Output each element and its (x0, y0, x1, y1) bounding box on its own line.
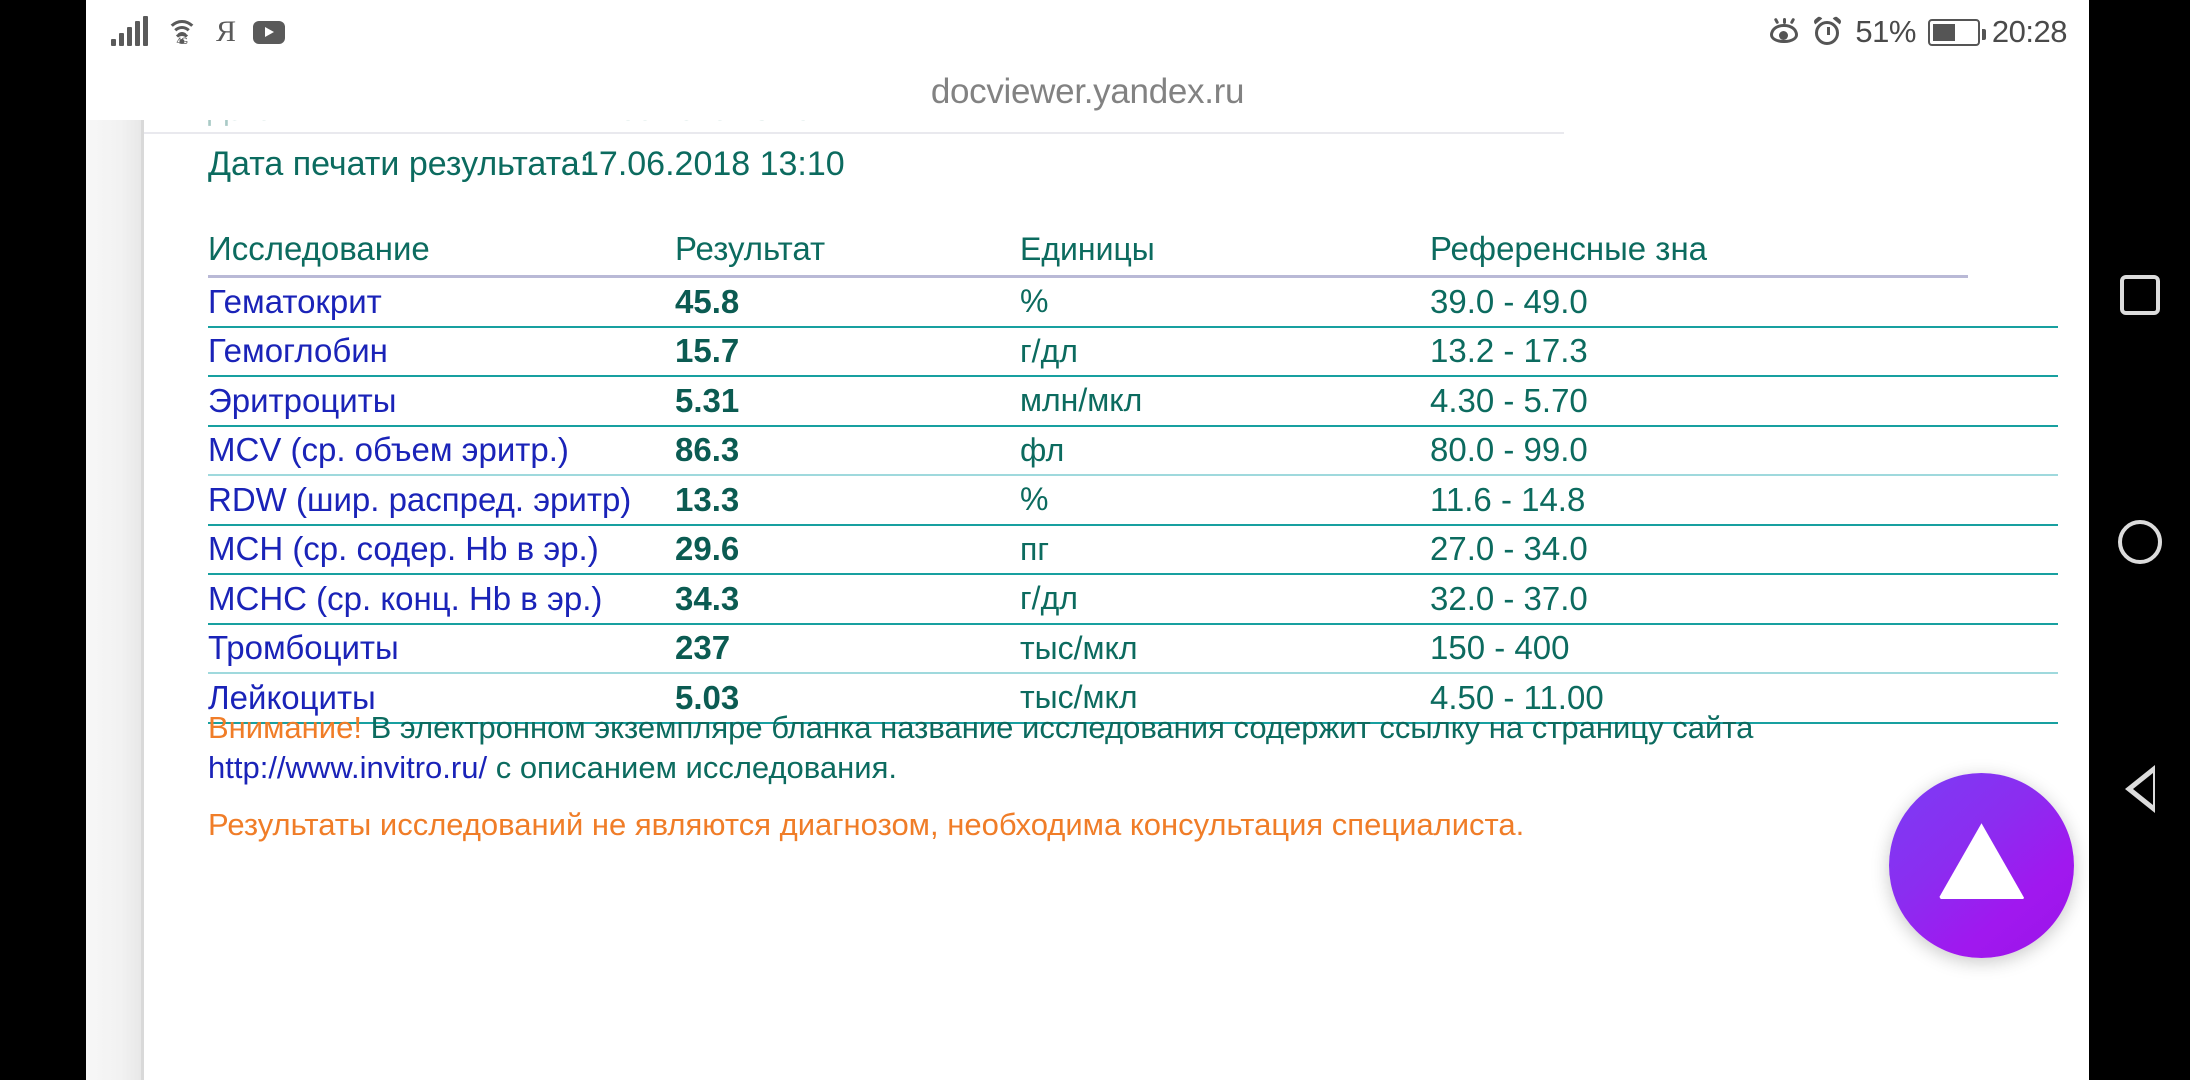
cell-units: тыс/мкл (1020, 630, 1430, 667)
header-name: Исследование (208, 230, 675, 268)
cell-result: 86.3 (675, 431, 1020, 469)
cell-units: фл (1020, 432, 1430, 469)
cell-units: г/дл (1020, 333, 1430, 370)
status-bar-right-icons: 51% 20:28 (1767, 0, 2067, 64)
clipped-value: 17.06.2018 13:10 (578, 120, 812, 128)
table-row: Гематокрит 45.8 % 39.0 - 49.0 (208, 278, 2058, 328)
cell-result: 45.8 (675, 283, 1020, 321)
print-date-label: Дата печати результата: (208, 145, 580, 184)
alarm-clock-icon (1813, 17, 1843, 47)
status-bar: 4G Я 51% 20:28 (86, 0, 2089, 64)
cell-result: 13.3 (675, 481, 1020, 519)
eye-comfort-icon (1767, 19, 1801, 45)
cell-result: 15.7 (675, 332, 1020, 370)
phone-screen: 4G Я 51% 20:28 docviewer.yandex.ru (0, 0, 2190, 1080)
cell-test-name[interactable]: Гемоглобин (208, 332, 675, 370)
cell-test-name[interactable]: RDW (шир. распред. эритр) (208, 481, 675, 519)
cell-test-name[interactable]: Гематокрит (208, 283, 675, 321)
clock-label: 20:28 (1992, 14, 2067, 50)
cell-test-name[interactable]: MCHC (ср. конц. Hb в эр.) (208, 580, 675, 618)
cell-units: % (1020, 481, 1430, 518)
docviewer-content[interactable]: Дата в 17.06.2018 13:10 Дата печати резу… (86, 120, 2089, 1080)
table-row: Гемоглобин 15.7 г/дл 13.2 - 17.3 (208, 328, 2058, 378)
header-result: Результат (675, 230, 1020, 268)
home-button[interactable] (2118, 520, 2162, 564)
table-row: MCH (ср. содер. Hb в эр.) 29.6 пг 27.0 -… (208, 526, 2058, 576)
table-header-row: Исследование Результат Единицы Референсн… (208, 220, 2058, 278)
viewer-left-gutter (86, 120, 144, 1080)
table-body: Гематокрит 45.8 % 39.0 - 49.0 Гемоглобин… (208, 278, 2058, 724)
table-row: Эритроциты 5.31 млн/мкл 4.30 - 5.70 (208, 377, 2058, 427)
battery-icon (1928, 19, 1980, 46)
header-units: Единицы (1020, 231, 1430, 268)
cell-reference: 11.6 - 14.8 (1430, 481, 1950, 519)
status-bar-left-icons: 4G Я (111, 0, 285, 64)
cell-test-name[interactable]: Тромбоциты (208, 629, 675, 667)
back-button[interactable] (2125, 765, 2155, 813)
table-row: MCHC (ср. конц. Hb в эр.) 34.3 г/дл 32.0… (208, 575, 2058, 625)
cell-test-name[interactable]: MCV (ср. объем эритр.) (208, 431, 675, 469)
browser-url-bar[interactable]: docviewer.yandex.ru (86, 64, 2089, 120)
invitro-link[interactable]: http://www.invitro.ru/ (208, 750, 487, 785)
cell-test-name[interactable]: Эритроциты (208, 382, 675, 420)
cell-reference: 39.0 - 49.0 (1430, 283, 1950, 321)
table-row: Тромбоциты 237 тыс/мкл 150 - 400 (208, 625, 2058, 675)
cell-reference: 13.2 - 17.3 (1430, 332, 1950, 370)
table-row: RDW (шир. распред. эритр) 13.3 % 11.6 - … (208, 476, 2058, 526)
android-navigation-bar (2089, 0, 2190, 1080)
attention-note: Внимание! В электронном экземпляре бланк… (208, 708, 2008, 787)
results-table: Исследование Результат Единицы Референсн… (208, 220, 2058, 724)
battery-percent-label: 51% (1855, 14, 1916, 50)
attention-text-part2: с описанием исследования. (487, 750, 897, 785)
cell-reference: 80.0 - 99.0 (1430, 431, 1950, 469)
header-reference: Референсные зна (1430, 230, 1950, 268)
cell-units: % (1020, 283, 1430, 320)
clipped-label: Дата в (208, 120, 299, 128)
cell-reference: 4.30 - 5.70 (1430, 382, 1950, 420)
signal-bars-icon (111, 18, 148, 46)
document-notes: Внимание! В электронном экземпляре бланк… (208, 708, 2008, 843)
cell-units: млн/мкл (1020, 382, 1430, 419)
cell-reference: 32.0 - 37.0 (1430, 580, 1950, 618)
url-text[interactable]: docviewer.yandex.ru (931, 72, 1244, 112)
table-row: MCV (ср. объем эритр.) 86.3 фл 80.0 - 99… (208, 427, 2058, 477)
alice-triangle-icon (1936, 822, 2028, 910)
cell-units: г/дл (1020, 580, 1430, 617)
wifi-icon: 4G (165, 18, 199, 46)
left-bezel (0, 0, 86, 1080)
clipped-top-row: Дата в 17.06.2018 13:10 (208, 120, 1708, 132)
cell-test-name[interactable]: MCH (ср. содер. Hb в эр.) (208, 530, 675, 568)
document-page: Дата в 17.06.2018 13:10 Дата печати резу… (144, 120, 2089, 1080)
cell-result: 29.6 (675, 530, 1020, 568)
cell-reference: 150 - 400 (1430, 629, 1950, 667)
attention-word: Внимание! (208, 710, 362, 745)
yandex-icon: Я (216, 17, 236, 47)
print-date-value: 17.06.2018 13:10 (580, 145, 845, 184)
yandex-alice-assistant-button[interactable] (1889, 773, 2074, 958)
youtube-icon (253, 21, 285, 44)
recents-button[interactable] (2120, 275, 2160, 315)
print-date-line: Дата печати результата: 17.06.2018 13:10 (208, 145, 845, 184)
cell-result: 5.31 (675, 382, 1020, 420)
attention-text-part1: В электронном экземпляре бланка название… (362, 710, 1753, 745)
disclaimer-note: Результаты исследований не являются диаг… (208, 807, 2008, 843)
cell-units: пг (1020, 531, 1430, 568)
cell-result: 237 (675, 629, 1020, 667)
wifi-label: 4G (173, 33, 190, 49)
cell-reference: 27.0 - 34.0 (1430, 530, 1950, 568)
clipped-row-rule (144, 132, 1564, 134)
cell-result: 34.3 (675, 580, 1020, 618)
